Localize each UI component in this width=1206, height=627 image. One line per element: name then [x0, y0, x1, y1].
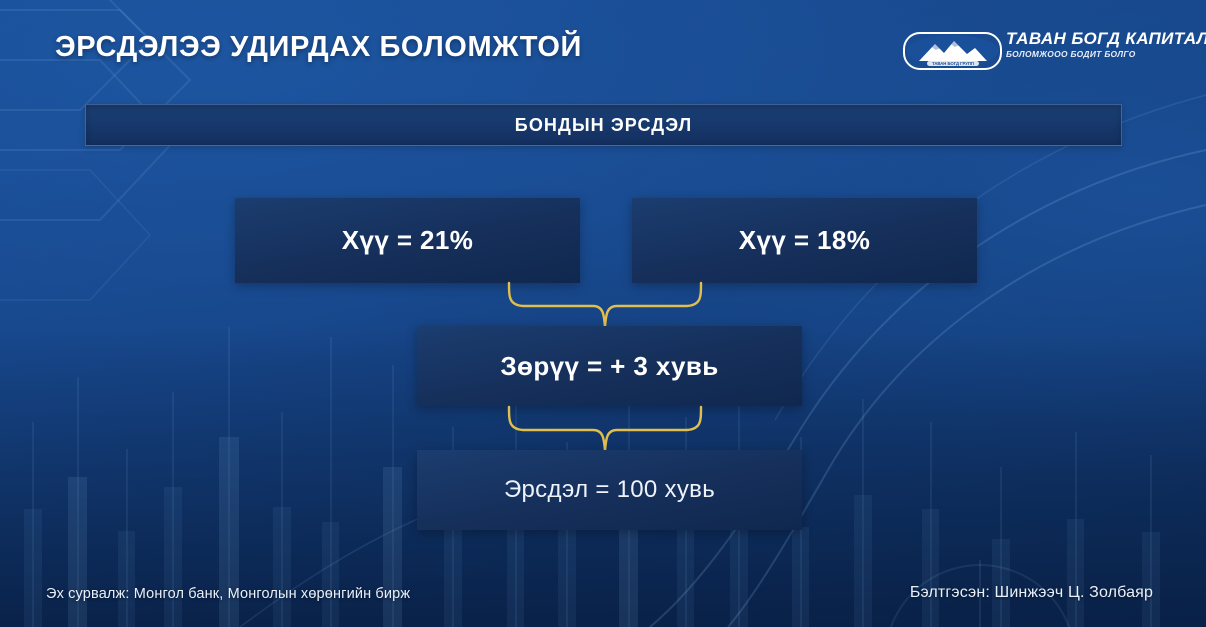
brace-connector-bottom — [505, 405, 705, 453]
risk-label: Эрсдэл = 100 хувь — [504, 476, 715, 504]
section-banner: БОНДЫН ЭРСДЭЛ — [85, 104, 1122, 146]
rate-right-label: Хүү = 18% — [739, 225, 871, 256]
logo-tagline: БОЛОМЖООО БОДИТ БОЛГО — [1006, 49, 1168, 60]
background-chevrons — [0, 0, 1206, 627]
svg-text:ТАВАН БОГД ГРУПП: ТАВАН БОГД ГРУПП — [932, 61, 974, 66]
logo-wordmark: ТАВАН БОГД КАПИТАЛ БОЛОМЖООО БОДИТ БОЛГО — [1006, 29, 1168, 60]
background-curves — [0, 0, 1206, 627]
company-logo: ТАВАН БОГД ГРУПП ТАВАН БОГД КАПИТАЛ БОЛО… — [903, 28, 1168, 71]
rate-box-right: Хүү = 18% — [632, 198, 977, 283]
section-banner-label: БОНДЫН ЭРСДЭЛ — [515, 115, 692, 136]
risk-box: Эрсдэл = 100 хувь — [417, 450, 802, 530]
rate-box-left: Хүү = 21% — [235, 198, 580, 283]
slide-canvas: ЭРСДЭЛЭЭ УДИРДАХ БОЛОМЖТОЙ ТАВАН БОГД ГР… — [0, 0, 1206, 627]
logo-company-name: ТАВАН БОГД КАПИТАЛ — [1006, 29, 1168, 48]
footer-source: Эх сурвалж: Монгол банк, Монголын хөрөнг… — [46, 586, 410, 602]
spread-box: Зөрүү = + 3 хувь — [417, 326, 802, 406]
spread-label: Зөрүү = + 3 хувь — [500, 351, 718, 382]
mountain-logo-icon: ТАВАН БОГД ГРУПП — [903, 32, 1002, 70]
rate-left-label: Хүү = 21% — [342, 225, 474, 256]
footer-author: Бэлтгэсэн: Шинжээч Ц. Золбаяр — [910, 584, 1153, 602]
page-title: ЭРСДЭЛЭЭ УДИРДАХ БОЛОМЖТОЙ — [55, 31, 582, 64]
brace-connector-top — [505, 281, 705, 329]
